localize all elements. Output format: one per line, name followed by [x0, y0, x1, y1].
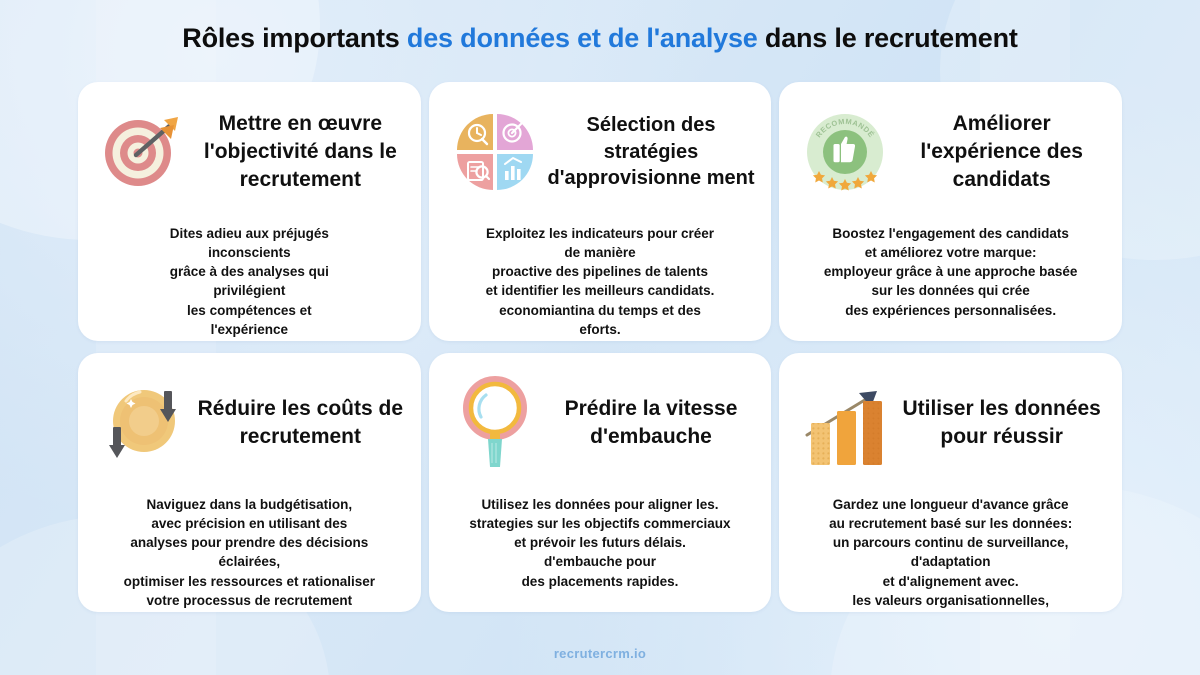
card-title: Sélection des stratégies d'approvisionne… — [547, 112, 758, 191]
card-title: Réduire les coûts de recrutement — [196, 395, 407, 450]
card-body: Utilisez les données pour aligner les. s… — [443, 479, 758, 602]
card-description: Gardez une longueur d'avance grâce au re… — [829, 495, 1072, 610]
page-title-part1: Rôles importants — [182, 23, 407, 53]
card-description: Boostez l'engagement des candidats et am… — [824, 224, 1078, 320]
card-header: RECOMMANDÉ — [793, 96, 1108, 208]
card-title: Mettre en œuvre l'objectivité dans le re… — [196, 110, 407, 193]
page-title-accent: des données et de l'analyse — [407, 23, 758, 53]
card-description: Exploitez les indicateurs pour créer de … — [486, 224, 715, 339]
card-use-data-to-succeed[interactable]: Utiliser les données pour réussir Gardez… — [779, 353, 1122, 612]
card-description: Dites adieu aux préjugés inconscients gr… — [170, 224, 329, 341]
coin-down-arrows-icon — [92, 373, 196, 473]
card-sourcing-strategies[interactable]: Sélection des stratégies d'approvisionne… — [429, 82, 772, 341]
card-description: Naviguez dans la budgétisation, avec pré… — [124, 495, 375, 610]
card-header: Prédire la vitesse d'embauche — [443, 367, 758, 479]
card-grid: Mettre en œuvre l'objectivité dans le re… — [78, 82, 1122, 620]
card-candidate-experience[interactable]: RECOMMANDÉ — [779, 82, 1122, 341]
magnifying-glass-icon — [443, 373, 547, 473]
card-title: Utiliser les données pour réussir — [897, 395, 1108, 450]
card-body: Gardez une longueur d'avance grâce au re… — [793, 479, 1108, 610]
card-title: Prédire la vitesse d'embauche — [547, 395, 758, 450]
card-reduce-costs[interactable]: Réduire les coûts de recrutement Navigue… — [78, 353, 421, 612]
card-body: Dites adieu aux préjugés inconscients gr… — [92, 208, 407, 341]
recommended-badge-icon: RECOMMANDÉ — [793, 102, 897, 202]
card-body: Naviguez dans la budgétisation, avec pré… — [92, 479, 407, 610]
card-description: Utilisez les données pour aligner les. s… — [469, 495, 730, 591]
card-objectivity[interactable]: Mettre en œuvre l'objectivité dans le re… — [78, 82, 421, 341]
card-header: Réduire les coûts de recrutement — [92, 367, 407, 479]
card-header: Utiliser les données pour réussir — [793, 367, 1108, 479]
target-arrow-icon — [92, 102, 196, 202]
infographic-poster: Rôles importants des données et de l'ana… — [0, 0, 1200, 675]
page-title: Rôles importants des données et de l'ana… — [0, 23, 1200, 54]
card-body: Boostez l'engagement des candidats et am… — [793, 208, 1108, 331]
card-header: Mettre en œuvre l'objectivité dans le re… — [92, 96, 407, 208]
card-title: Améliorer l'expérience des candidats — [897, 110, 1108, 193]
card-predict-hiring-speed[interactable]: Prédire la vitesse d'embauche Utilisez l… — [429, 353, 772, 612]
footer-brand[interactable]: recrutercrm.io — [0, 646, 1200, 661]
quadrant-pie-icon — [443, 102, 547, 202]
card-body: Exploitez les indicateurs pour créer de … — [443, 208, 758, 339]
page-title-part2: dans le recrutement — [758, 23, 1018, 53]
growth-bar-chart-icon — [793, 373, 897, 473]
card-header: Sélection des stratégies d'approvisionne… — [443, 96, 758, 208]
